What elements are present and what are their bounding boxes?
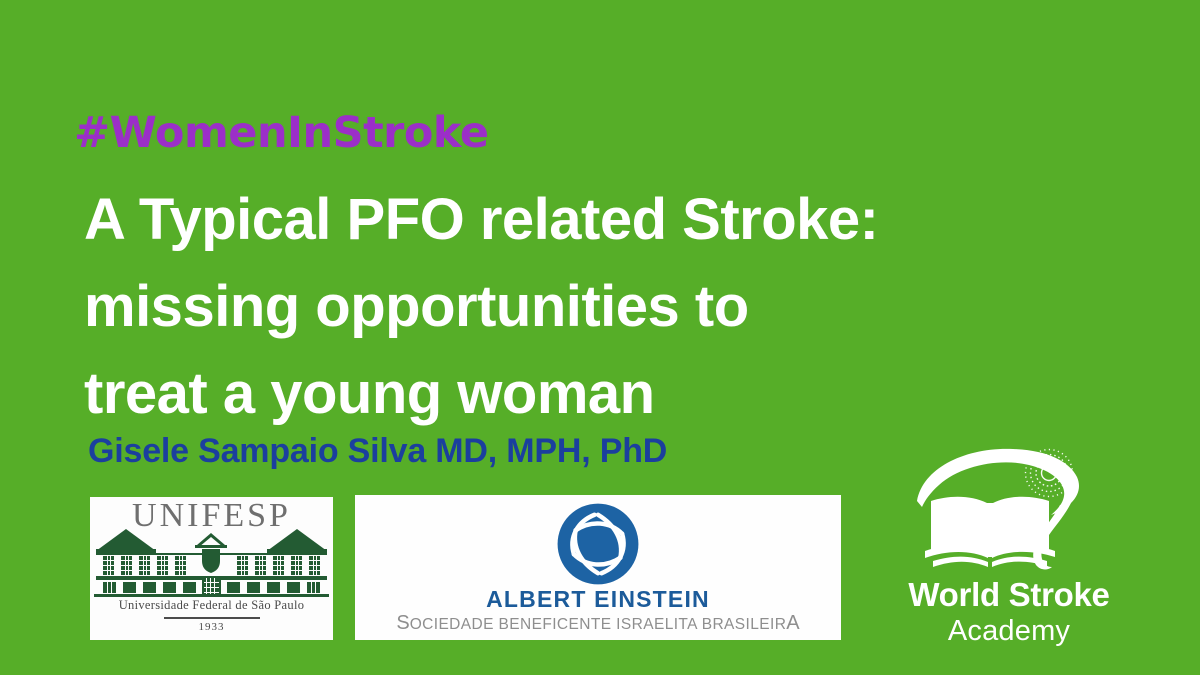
hashtag-label: #WomenInStroke (74, 112, 489, 155)
unifesp-logo: UNIFESP (90, 497, 333, 640)
albert-einstein-logo: ALBERT EINSTEIN SOCIEDADE BENEFICENTE IS… (355, 495, 841, 640)
einstein-subtitle-tail: A (786, 612, 799, 634)
einstein-name: ALBERT EINSTEIN (355, 588, 841, 611)
title-line-1: A Typical PFO related Stroke: (84, 176, 1124, 263)
einstein-subtitle-body: OCIEDADE BENEFICENTE ISRAELITA BRASILEIR (410, 616, 787, 633)
wsa-title-line-2: Academy (893, 615, 1125, 648)
presentation-title-slide: #WomenInStroke A Typical PFO related Str… (0, 0, 1200, 675)
unifesp-subtitle: Universidade Federal de São Paulo (90, 599, 333, 612)
wsa-title-line-1: World Stroke (893, 576, 1125, 614)
author-name: Gisele Sampaio Silva MD, MPH, PhD (88, 430, 667, 473)
unifesp-divider (164, 617, 260, 619)
title-line-2: missing opportunities to (84, 263, 1124, 350)
world-stroke-academy-logo: World Stroke Academy (893, 443, 1125, 648)
page-title: A Typical PFO related Stroke: missing op… (84, 176, 1124, 437)
unifesp-year: 1933 (90, 621, 333, 633)
open-book-swoosh-icon (909, 443, 1099, 578)
einstein-subtitle: SOCIEDADE BENEFICENTE ISRAELITA BRASILEI… (355, 613, 841, 633)
einstein-star-emblem-icon (555, 501, 641, 587)
einstein-subtitle-initial: S (396, 612, 409, 634)
unifesp-building-icon (94, 525, 329, 597)
title-line-3: treat a young woman (84, 350, 1124, 437)
